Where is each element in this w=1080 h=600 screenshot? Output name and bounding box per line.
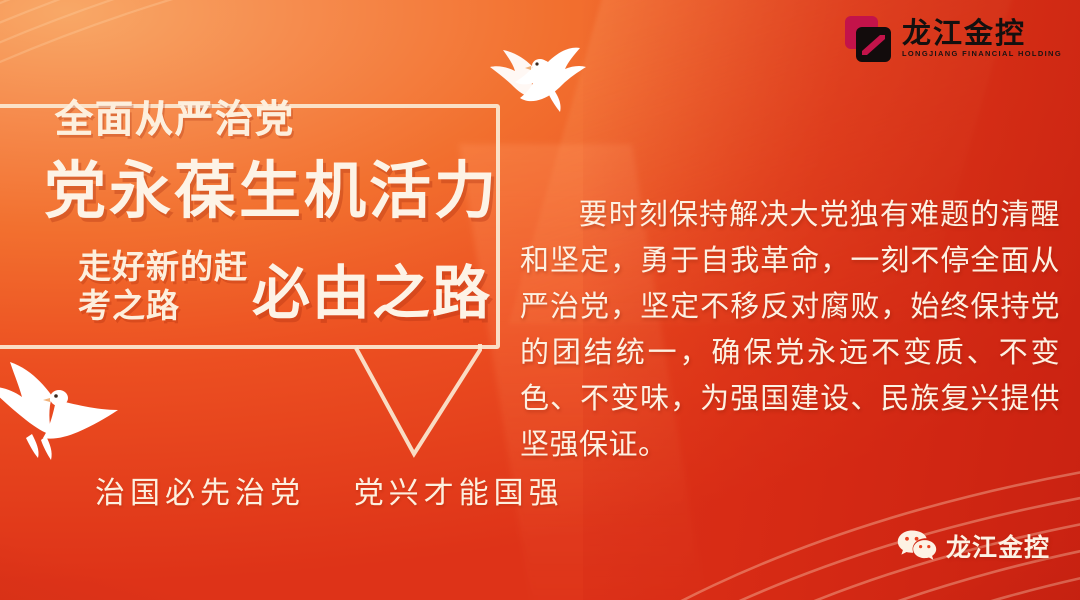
company-name-cn: 龙江金控 bbox=[902, 20, 1062, 49]
wechat-badge: 龙江金控 bbox=[897, 528, 1050, 564]
company-name-en: LONGJIANG FINANCIAL HOLDING bbox=[902, 50, 1062, 58]
logo-mark-front-square bbox=[856, 27, 891, 62]
tagline-part-2: 党兴才能国强 bbox=[354, 477, 564, 510]
body-paragraph-text: 要时刻保持解决大党独有难题的清醒和坚定，勇于自我革命，一刻不停全面从严治党，坚定… bbox=[520, 199, 1060, 461]
logo-mark-slash bbox=[860, 31, 887, 58]
subheading-large-text: 必由之路 bbox=[252, 246, 492, 330]
wechat-icon bbox=[897, 529, 937, 563]
wechat-account-name: 龙江金控 bbox=[946, 528, 1050, 564]
left-copy-block: 全面从严治党 党永葆生机活力 走好新的赶考之路 必由之路 治国必先治党 党兴才能… bbox=[0, 0, 530, 600]
company-logo-mark bbox=[845, 16, 891, 62]
company-logo-text: 龙江金控 LONGJIANG FINANCIAL HOLDING bbox=[902, 20, 1062, 58]
body-paragraph: 要时刻保持解决大党独有难题的清醒和坚定，勇于自我革命，一刻不停全面从严治党，坚定… bbox=[520, 192, 1060, 468]
poster-banner: 全面从严治党 党永葆生机活力 走好新的赶考之路 必由之路 治国必先治党 党兴才能… bbox=[0, 0, 1080, 600]
tagline-part-1: 治国必先治党 bbox=[95, 477, 305, 510]
subheading-small-text: 走好新的赶考之路 bbox=[78, 248, 248, 326]
company-logo: 龙江金控 LONGJIANG FINANCIAL HOLDING bbox=[845, 16, 1062, 62]
tagline: 治国必先治党 党兴才能国强 bbox=[95, 468, 564, 512]
headline-text: 党永葆生机活力 bbox=[44, 140, 499, 230]
kicker-text: 全面从严治党 bbox=[55, 88, 295, 143]
